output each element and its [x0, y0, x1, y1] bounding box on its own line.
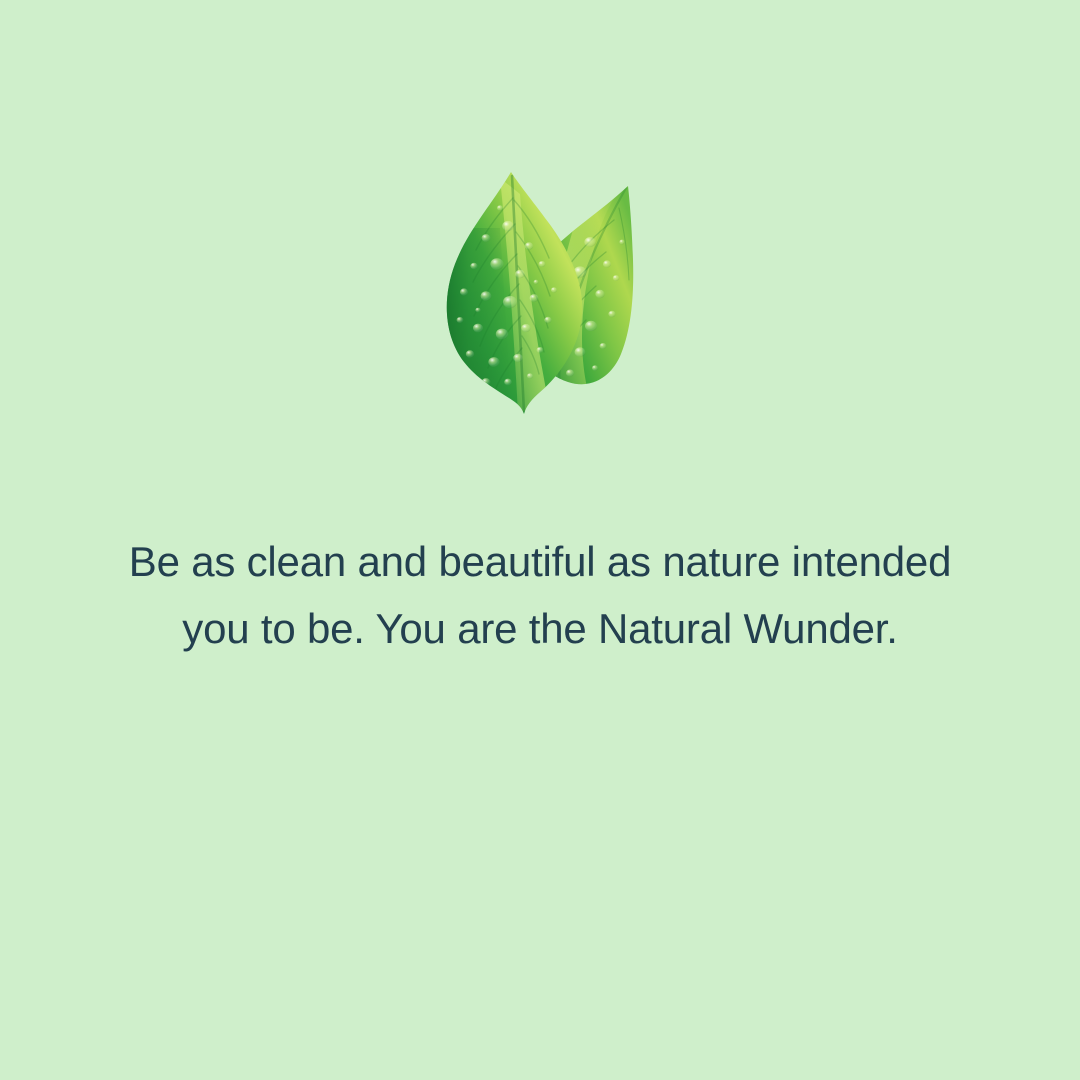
promo-card: Be as clean and beautiful as nature inte…: [0, 0, 1080, 1080]
quote-text: Be as clean and beautiful as nature inte…: [0, 528, 1080, 662]
two-green-leaves-with-water-droplets-icon: [440, 168, 640, 416]
quote-line-2: you to be. You are the Natural Wunder.: [0, 595, 1080, 662]
quote-line-1: Be as clean and beautiful as nature inte…: [0, 528, 1080, 595]
